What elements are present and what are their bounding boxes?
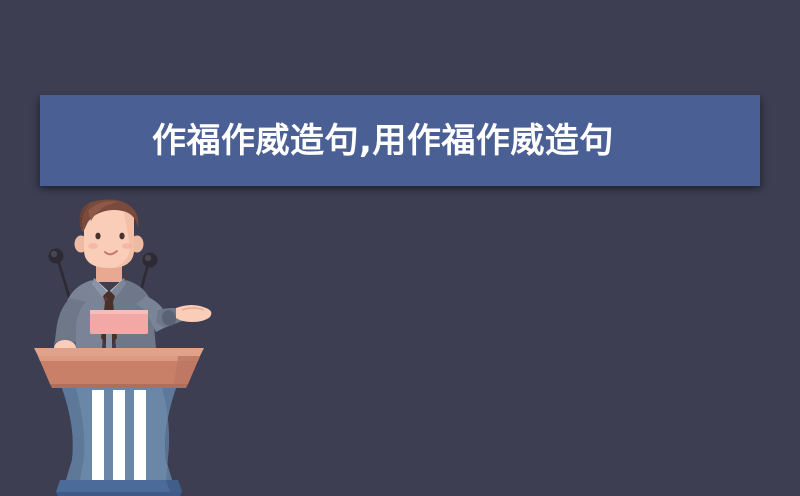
podium-column	[62, 388, 176, 480]
podium-desk	[34, 348, 204, 388]
podium-base	[56, 480, 182, 496]
speaker-head	[75, 200, 144, 269]
page-title: 作福作威造句,用作福作威造句	[152, 124, 614, 158]
speaker-illustration	[14, 198, 224, 496]
title-banner: 作福作威造句,用作福作威造句	[40, 95, 760, 186]
slide-canvas: 作福作威造句,用作福作威造句	[0, 0, 800, 496]
